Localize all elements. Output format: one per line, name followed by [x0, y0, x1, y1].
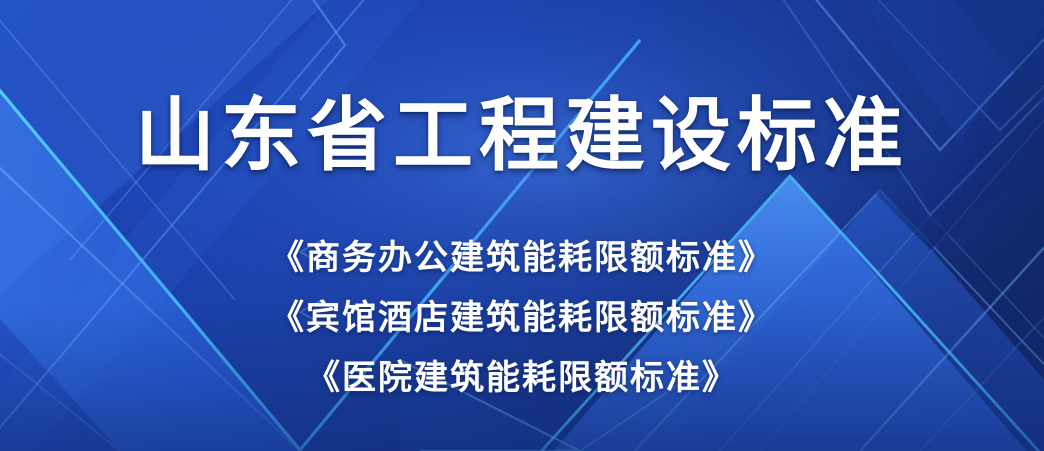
standard-list: 《商务办公建筑能耗限额标准》 《宾馆酒店建筑能耗限额标准》 《医院建筑能耗限额标… — [0, 228, 1044, 408]
list-item: 《商务办公建筑能耗限额标准》 — [0, 228, 1044, 288]
list-item: 《宾馆酒店建筑能耗限额标准》 — [0, 288, 1044, 348]
list-item: 《医院建筑能耗限额标准》 — [0, 348, 1044, 408]
banner-root: 山东省工程建设标准 《商务办公建筑能耗限额标准》 《宾馆酒店建筑能耗限额标准》 … — [0, 0, 1044, 451]
page-title: 山东省工程建设标准 — [0, 96, 1044, 176]
